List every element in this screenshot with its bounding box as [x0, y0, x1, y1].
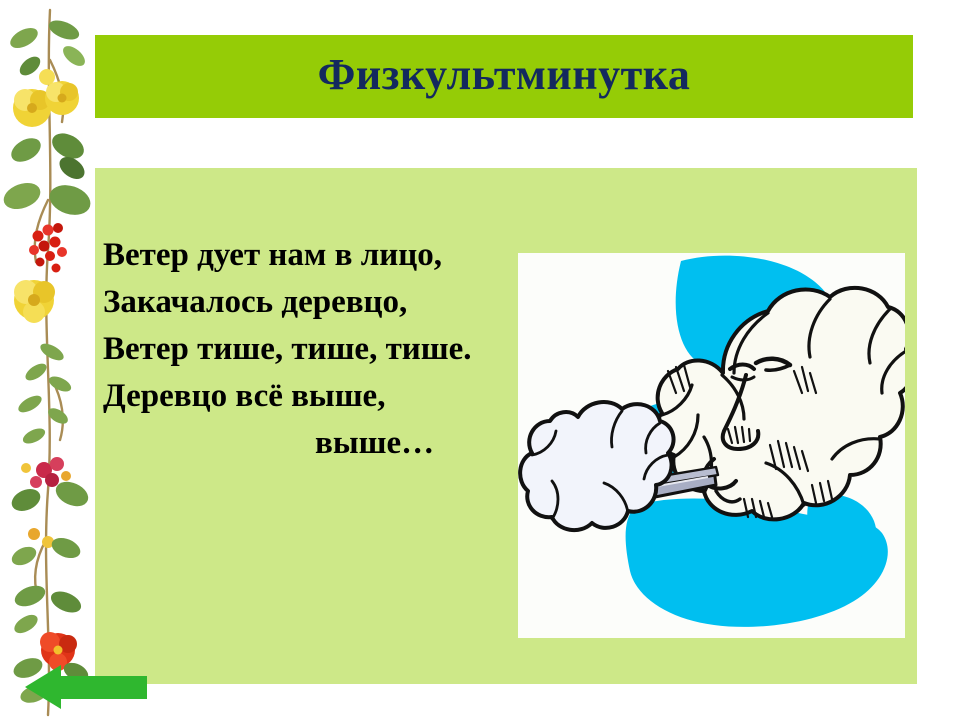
leaf-cluster — [16, 340, 74, 446]
raspberry-cluster — [8, 457, 92, 515]
poem-line: Деревцо всё выше, — [103, 373, 523, 420]
yellow-flowers — [14, 280, 55, 323]
poem-line: Ветер тише, тише, тише. — [103, 326, 523, 373]
wind-cloud-illustration — [518, 253, 905, 638]
leaf-cluster — [0, 128, 94, 219]
back-arrow-icon — [25, 665, 147, 709]
poem-line: Закачалось деревцо, — [103, 279, 523, 326]
flower-buds — [9, 528, 83, 569]
yellow-flowers — [13, 69, 79, 127]
botanical-floral-border — [0, 0, 95, 720]
page-title: Физкультминутка — [318, 53, 691, 101]
poem-line: Ветер дует нам в лицо, — [103, 232, 523, 279]
poem-line: выше… — [103, 420, 523, 467]
leaf-cluster — [11, 582, 84, 637]
leaf-cluster — [7, 17, 88, 79]
slide-canvas: Физкультминутка Ветер дует нам в лицо, З… — [0, 0, 960, 720]
red-currant-berries — [29, 223, 67, 273]
title-banner: Физкультминутка — [95, 35, 913, 118]
poem-block: Ветер дует нам в лицо, Закачалось деревц… — [103, 232, 523, 467]
back-arrow-button[interactable] — [25, 663, 147, 709]
